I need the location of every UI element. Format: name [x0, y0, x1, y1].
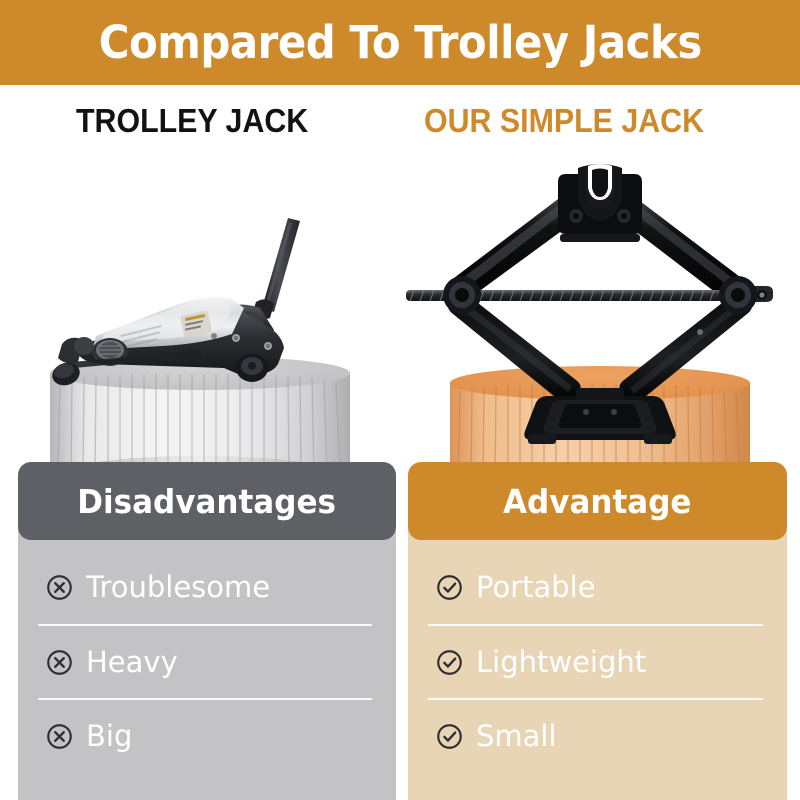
scissor-jack-base-plate — [524, 388, 675, 444]
list-item-label: Heavy — [86, 648, 178, 677]
list-item[interactable]: Small — [428, 698, 763, 772]
trolley-jack-handle — [252, 218, 300, 319]
circle-check-icon — [436, 723, 463, 750]
list-item[interactable]: Lightweight — [428, 624, 763, 698]
advantage-card: Advantage Portable Lightweight — [408, 462, 787, 800]
circle-check-icon — [436, 649, 463, 676]
header-banner: Compared To Trolley Jacks — [0, 0, 800, 85]
scissor-jack-stage — [400, 150, 800, 470]
list-item-label: Small — [476, 722, 557, 751]
list-item[interactable]: Big — [38, 698, 372, 772]
scissor-jack-saddle — [558, 164, 642, 242]
circle-x-icon — [46, 723, 73, 750]
disadvantages-list: Troublesome Heavy Bi — [18, 550, 396, 772]
circle-x-icon — [46, 574, 73, 601]
advantage-card-body: Portable Lightweight Small — [408, 530, 787, 800]
page-title: Compared To Trolley Jacks — [98, 20, 701, 65]
list-item[interactable]: Portable — [408, 550, 787, 624]
comparison-infographic: Compared To Trolley Jacks TROLLEY JACK O… — [0, 0, 800, 800]
left-column-heading: TROLLEY JACK — [76, 104, 308, 137]
trolley-jack-rear-wheel — [236, 354, 268, 382]
disadvantages-title: Disadvantages — [78, 485, 337, 518]
scissor-pivot-right — [719, 276, 757, 314]
trolley-jack-stage — [0, 150, 400, 470]
right-column-heading: OUR SIMPLE JACK — [424, 104, 704, 137]
circle-x-icon — [46, 649, 73, 676]
circle-check-icon — [436, 574, 463, 601]
list-item[interactable]: Heavy — [38, 624, 372, 698]
trolley-jack-photo — [0, 150, 400, 470]
disadvantages-card: Disadvantages Troublesome — [18, 462, 396, 800]
disadvantages-card-header: Disadvantages — [18, 462, 396, 540]
list-item-label: Lightweight — [476, 648, 646, 677]
scissor-jack-photo — [400, 150, 800, 470]
scissor-pivot-left — [443, 276, 481, 314]
disadvantages-card-body: Troublesome Heavy Bi — [18, 530, 396, 800]
list-item-label: Portable — [476, 573, 596, 602]
advantage-title: Advantage — [503, 485, 691, 518]
advantage-list: Portable Lightweight Small — [408, 550, 787, 772]
advantage-card-header: Advantage — [408, 462, 787, 540]
list-item-label: Troublesome — [86, 573, 270, 602]
list-item-label: Big — [86, 722, 132, 751]
list-item[interactable]: Troublesome — [18, 550, 396, 624]
